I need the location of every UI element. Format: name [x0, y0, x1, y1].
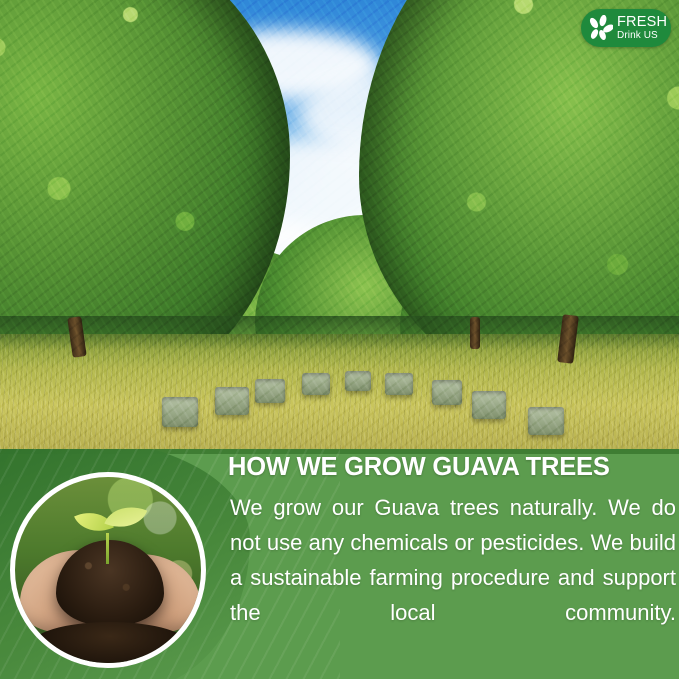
harvest-crate: [385, 373, 413, 395]
soil-ground-shape: [30, 622, 190, 668]
seedling-stem-shape: [106, 533, 109, 565]
hands-holding-seedling-photo: [10, 472, 206, 668]
brand-name-secondary: Drink US: [617, 31, 667, 41]
seedling-leaf-icon: [104, 497, 147, 536]
tree-trunk: [470, 317, 480, 349]
harvest-crate: [472, 391, 506, 419]
harvest-crate: [215, 387, 249, 415]
guava-orchard-photo: FRESH Drink US: [0, 0, 679, 449]
leaf-cluster-icon: [588, 15, 613, 42]
brand-name-primary: FRESH: [617, 15, 667, 30]
harvest-crate: [302, 373, 330, 395]
brand-logo-text: FRESH Drink US: [617, 15, 667, 42]
panel-body-text: We grow our Guava trees naturally. We do…: [230, 490, 676, 665]
harvest-crate: [432, 380, 462, 405]
product-info-graphic: FRESH Drink US HOW WE GROW GUAVA TREES W…: [0, 0, 679, 679]
harvest-crate: [255, 379, 285, 403]
panel-copy-block: HOW WE GROW GUAVA TREES We grow our Guav…: [228, 449, 679, 679]
info-panel: HOW WE GROW GUAVA TREES We grow our Guav…: [0, 449, 679, 679]
harvest-crate: [162, 397, 198, 427]
harvest-crate: [345, 371, 371, 391]
page-title: HOW WE GROW GUAVA TREES: [228, 454, 679, 481]
orchard-grass-ground: [0, 334, 679, 449]
harvest-crate: [528, 407, 564, 435]
brand-logo-badge[interactable]: FRESH Drink US: [581, 9, 671, 47]
